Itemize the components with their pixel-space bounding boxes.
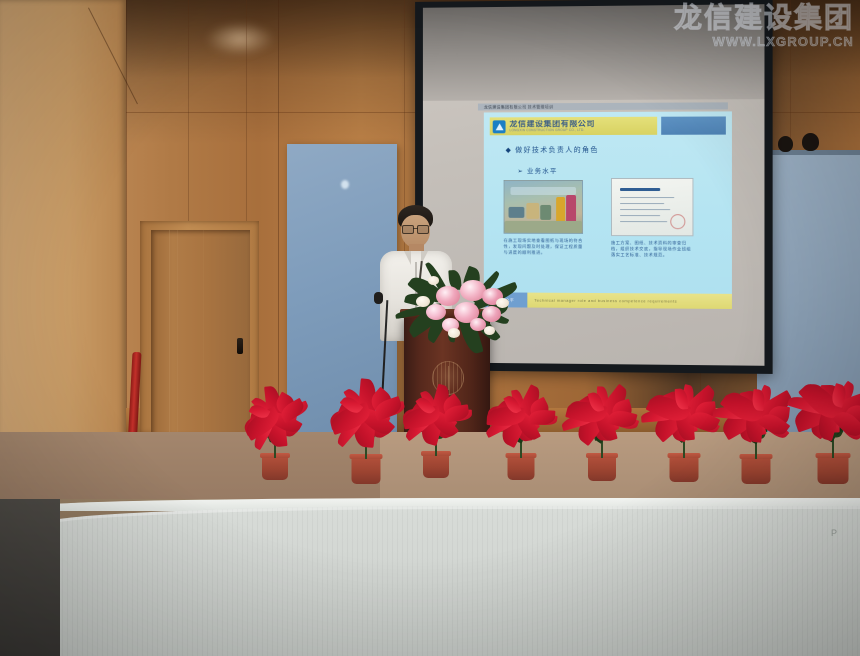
presentation-slide: 龙信建设集团有限公司 LONGXIN CONSTRUCTION GROUP CO… [484,111,732,309]
speaker-glasses-icon [402,225,429,232]
slide-photo-construction-site [504,180,583,234]
audience-head [778,136,793,152]
projector-header-strip: 龙信建设集团有限公司 技术管理培训 [478,102,728,110]
bouquet-lily [448,328,460,338]
slide-footer: 业务水平 Technical manager role and business… [484,292,732,309]
slide-company-name-cn: 龙信建设集团有限公司 [510,120,595,128]
slide-company-banner: 龙信建设集团有限公司 LONGXIN CONSTRUCTION GROUP CO… [490,117,657,136]
bouquet-bloom [436,286,460,306]
slide-company-name-en: LONGXIN CONSTRUCTION GROUP CO., LTD. [510,129,595,132]
slide-bullet-primary: ◆做好技术负责人的角色 [506,145,599,155]
audience-head [802,133,819,151]
slide-banner-accent [661,116,726,134]
poinsettia-plant [556,356,647,481]
slide-caption-right: 施工方案、图纸、技术资料的审查归档，组织技术交底，指导现场作业班组落实工艺标准、… [611,240,693,258]
projector-header-text: 龙信建设集团有限公司 技术管理培训 [478,102,728,110]
bouquet-bloom [482,306,501,322]
slide-bullet-primary-text: 做好技术负责人的角色 [515,147,599,154]
poinsettia-plant [393,360,479,478]
podium-flower-arrangement [396,256,520,342]
slide-photo-document [611,178,693,236]
apron-label: P [831,528,838,538]
microphone-icon [374,292,383,304]
poinsettia-plant [232,362,318,480]
stage-apron: P [0,468,860,656]
diamond-bullet-icon: ◆ [506,147,513,154]
arrow-bullet-icon: ➢ [517,168,524,175]
slide-bullet-secondary: ➢业务水平 [517,165,557,175]
slide-bullet-secondary-text: 业务水平 [527,168,558,175]
foreground-floor [0,499,60,656]
poinsettia-plant [782,345,860,484]
bouquet-lily [484,326,495,335]
bouquet-lily [428,276,439,285]
poinsettia-plant [477,360,565,480]
door-handle-icon[interactable] [237,338,243,354]
conference-hall-photo: 龙信建设集团有限公司 技术管理培训 龙信建设集团有限公司 LONGXIN CON… [0,0,860,656]
stage-apron-body [42,506,860,656]
slide-caption-left: 在施工现场实地查看图纸与现场的符合性，发现问题及时处理，保证工程质量与进度的顺利… [504,238,587,256]
slide-footer-note: Technical manager role and business comp… [527,293,732,309]
wall-light-glare [205,22,275,56]
company-logo-icon [493,120,506,133]
